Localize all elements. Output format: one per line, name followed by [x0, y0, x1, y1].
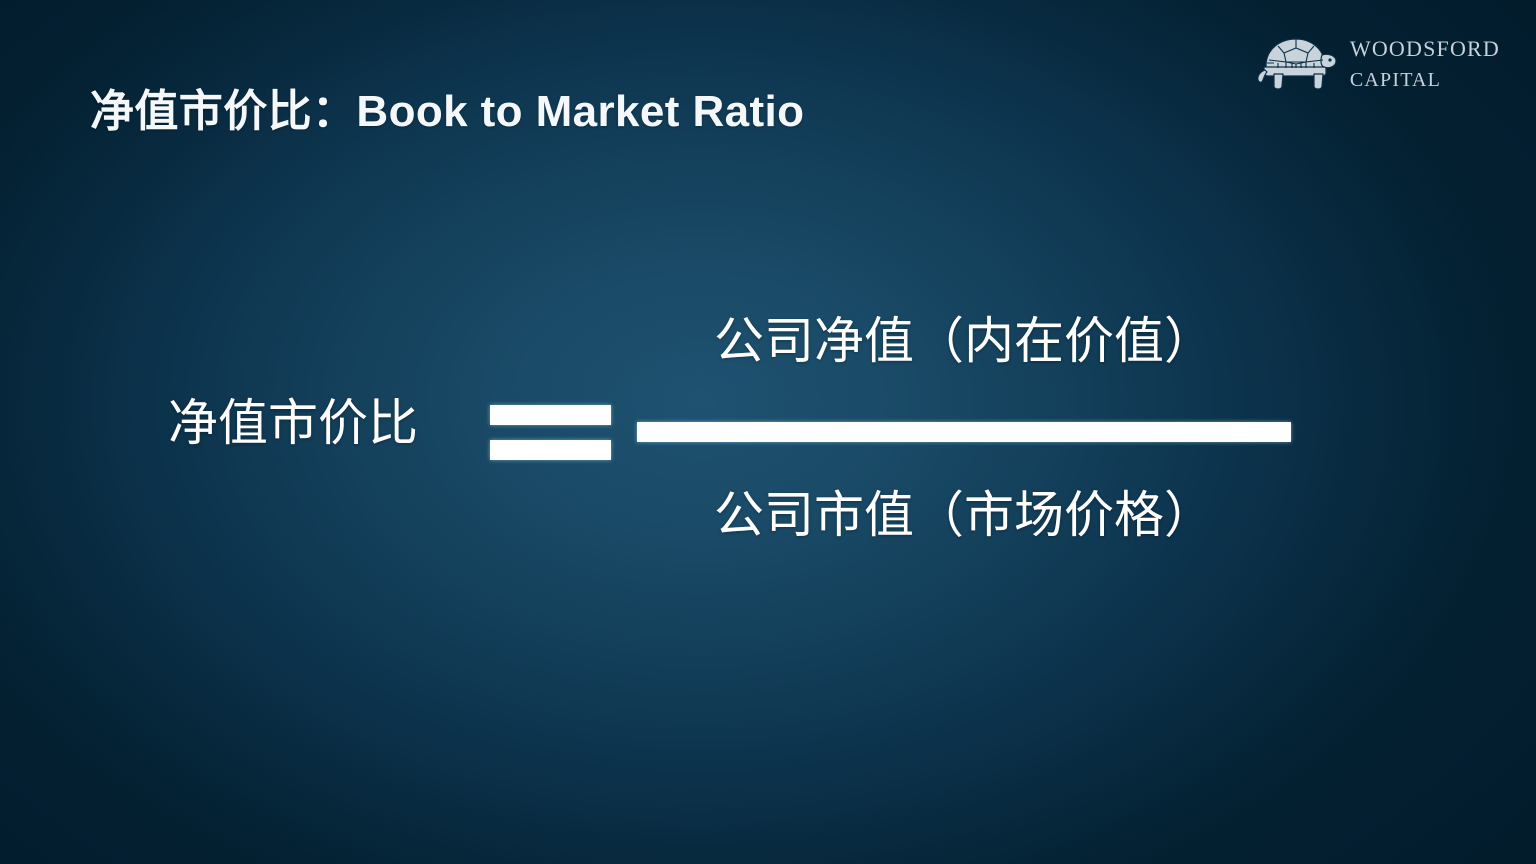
- slide-canvas: 净值市价比：Book to Market Ratio: [0, 0, 1536, 864]
- logo-wordmark: Woodsford Capital: [1350, 30, 1500, 92]
- equals-bar-top: [490, 405, 611, 425]
- logo-line-capital: Capital: [1350, 64, 1500, 92]
- equals-bar-bottom: [490, 440, 611, 460]
- formula-left-label: 净值市价比: [168, 398, 418, 448]
- equals-sign: [490, 405, 611, 460]
- fraction-bar: [637, 422, 1291, 442]
- fraction-numerator: 公司净值（内在价值）: [637, 316, 1291, 366]
- fraction-denominator: 公司市值（市场价格）: [637, 490, 1291, 540]
- page-title: 净值市价比：Book to Market Ratio: [90, 87, 804, 136]
- logo-line-woodsford: Woodsford: [1350, 30, 1500, 61]
- brand-logo: Woodsford Capital: [1254, 30, 1500, 92]
- turtle-logo-icon: [1254, 30, 1338, 92]
